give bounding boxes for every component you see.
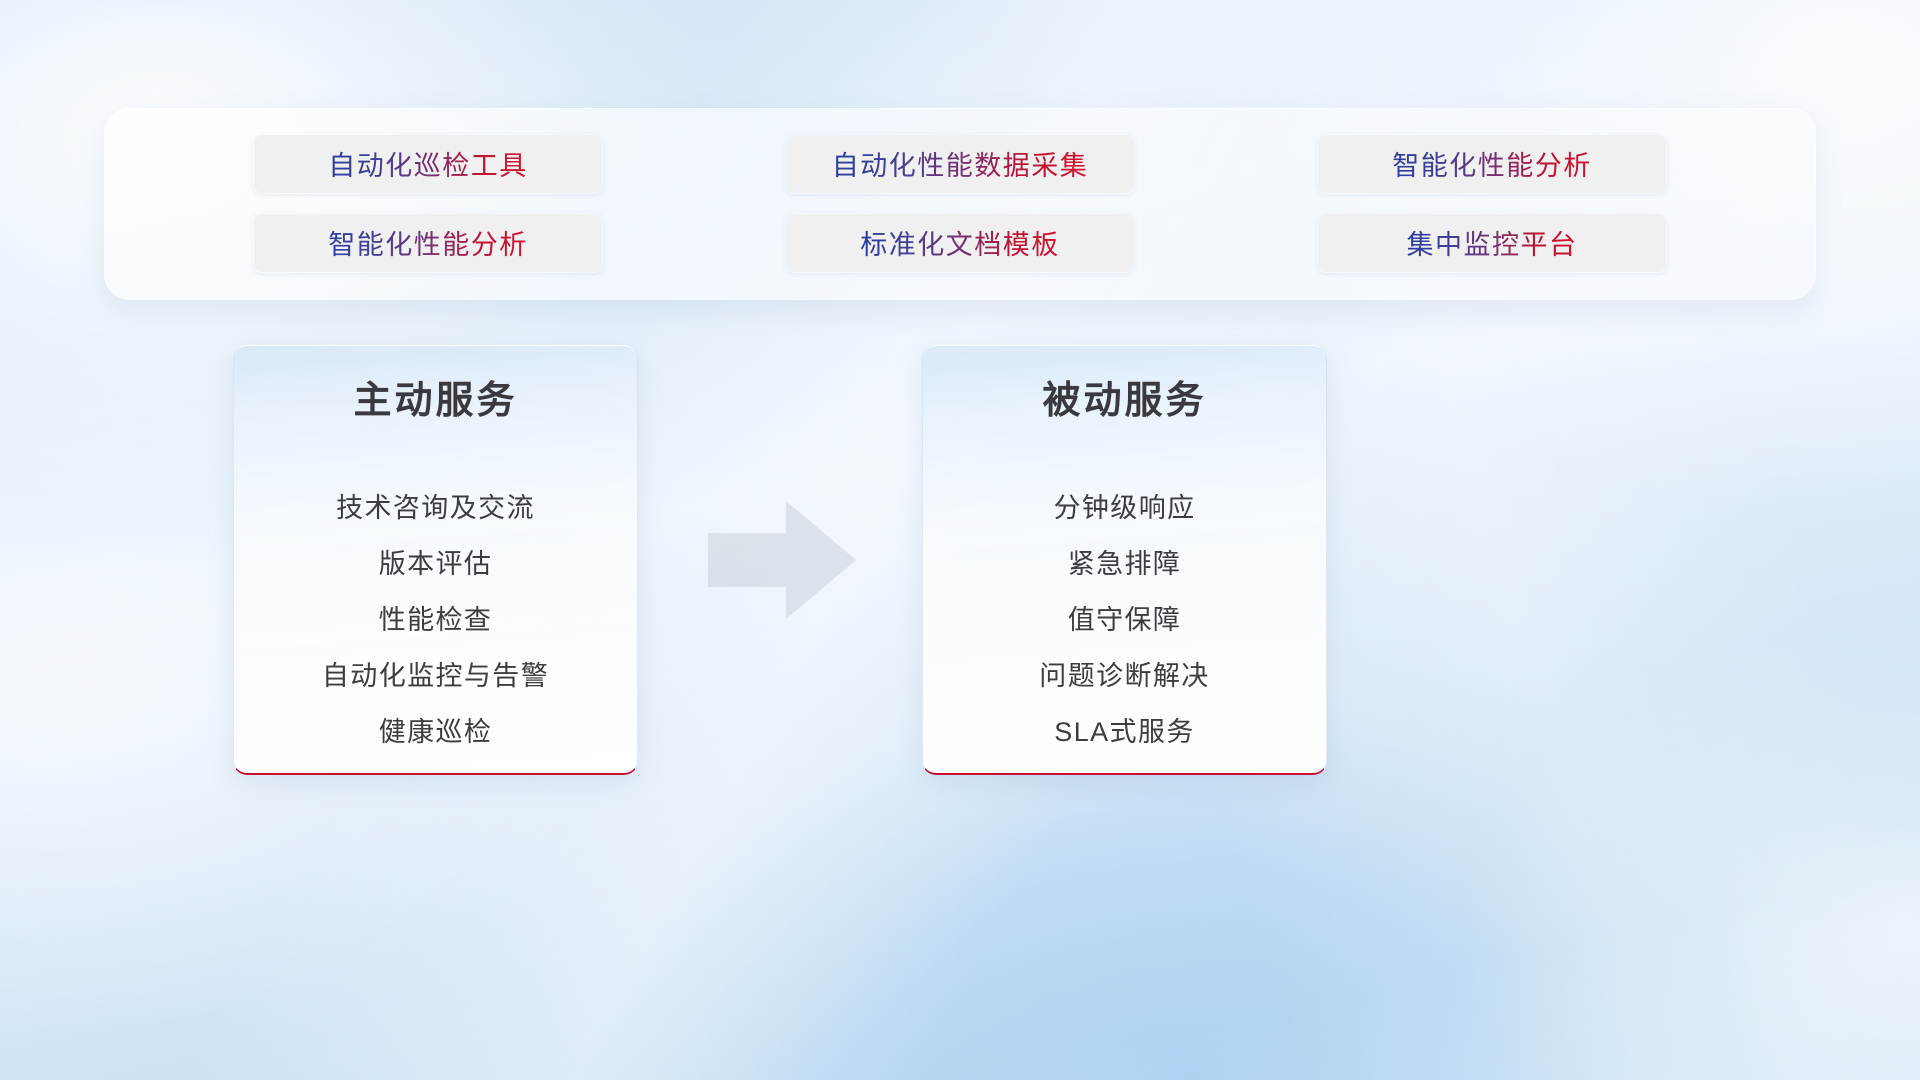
service-card-proactive-divider (260, 446, 612, 453)
service-card-reactive-list: 分钟级响应 紧急排障 值守保障 问题诊断解决 SLA式服务 (923, 481, 1326, 761)
list-item: 性能检查 (379, 593, 493, 649)
list-item: 问题诊断解决 (1039, 649, 1209, 705)
list-item: 分钟级响应 (1054, 481, 1196, 537)
capability-pill-2-label: 自动化性能数据采集 (832, 144, 1089, 183)
capability-pill-5[interactable]: 标准化文档模板 (784, 212, 1136, 274)
list-item: 紧急排障 (1068, 537, 1182, 593)
list-item: 版本评估 (379, 537, 493, 593)
list-item: 健康巡检 (379, 705, 493, 761)
capability-pill-4-inner: 智能化性能分析 (254, 214, 602, 272)
list-item: 技术咨询及交流 (336, 481, 535, 537)
service-card-reactive-divider (949, 446, 1301, 453)
flow-arrow-right-icon (708, 495, 856, 625)
service-card-proactive: 主动服务 技术咨询及交流 版本评估 性能检查 自动化监控与告警 健康巡检 (233, 345, 638, 775)
capability-pill-3[interactable]: 智能化性能分析 (1316, 133, 1668, 195)
service-card-proactive-list: 技术咨询及交流 版本评估 性能检查 自动化监控与告警 健康巡检 (234, 481, 637, 761)
capability-pill-2-inner: 自动化性能数据采集 (786, 135, 1134, 193)
capability-pill-4-label: 智能化性能分析 (328, 223, 528, 262)
capability-pill-2[interactable]: 自动化性能数据采集 (784, 133, 1136, 195)
capability-pill-6-inner: 集中监控平台 (1318, 214, 1666, 272)
service-card-reactive: 被动服务 分钟级响应 紧急排障 值守保障 问题诊断解决 SLA式服务 (922, 345, 1327, 775)
capabilities-panel: 自动化巡检工具 自动化性能数据采集 智能化性能分析 智能化性能分析 标准化文档模… (104, 108, 1816, 300)
capability-pill-5-inner: 标准化文档模板 (786, 214, 1134, 272)
capability-pill-1[interactable]: 自动化巡检工具 (252, 133, 604, 195)
list-item: 自动化监控与告警 (322, 649, 549, 705)
capability-pill-4[interactable]: 智能化性能分析 (252, 212, 604, 274)
list-item: 值守保障 (1068, 593, 1182, 649)
capability-pill-6-label: 集中监控平台 (1407, 223, 1578, 262)
capability-pill-1-label: 自动化巡检工具 (328, 144, 528, 183)
list-item: SLA式服务 (1054, 705, 1194, 761)
service-card-reactive-title: 被动服务 (923, 369, 1326, 424)
capability-pill-3-inner: 智能化性能分析 (1318, 135, 1666, 193)
capability-pill-5-label: 标准化文档模板 (860, 223, 1060, 262)
service-card-proactive-title: 主动服务 (234, 369, 637, 424)
capability-pill-3-label: 智能化性能分析 (1392, 144, 1592, 183)
capability-pill-1-inner: 自动化巡检工具 (254, 135, 602, 193)
capability-pill-6[interactable]: 集中监控平台 (1316, 212, 1668, 274)
